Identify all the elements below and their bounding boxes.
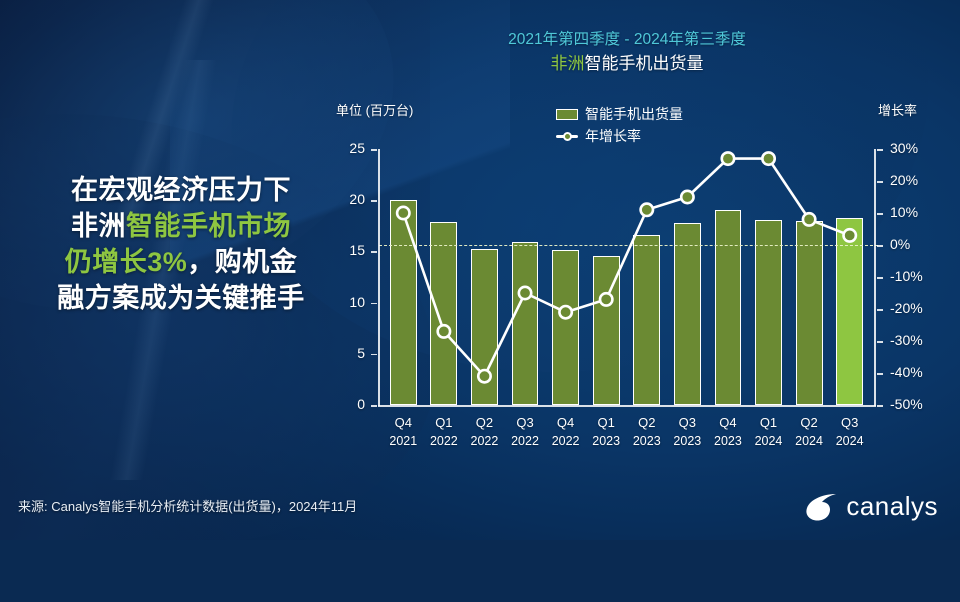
left-tickmark-0 <box>371 405 377 407</box>
growth-marker-10 <box>803 213 815 225</box>
right-tickmark-neg30pct <box>877 341 883 343</box>
canalys-mark-icon <box>804 492 838 522</box>
right-tick-30pct: 30% <box>890 140 956 156</box>
left-tickmark-25 <box>371 149 377 151</box>
right-tickmark-0pct <box>877 245 883 247</box>
growth-marker-6 <box>641 204 653 216</box>
growth-marker-11 <box>844 229 856 241</box>
headline-line-2-green: 智能手机市场 <box>126 211 291 241</box>
right-axis-title: 增长率 <box>878 100 917 119</box>
right-tickmark-10pct <box>877 213 883 215</box>
headline-line-4-text: 融方案成为关键推手 <box>57 283 305 313</box>
chart-title-main: 非洲智能手机出货量 <box>392 51 862 76</box>
right-tickmark-neg40pct <box>877 373 883 375</box>
right-axis-line <box>874 149 876 406</box>
right-tick-neg40pct: -40% <box>890 364 956 380</box>
x-label-q3-2024: Q32024 <box>829 413 870 459</box>
headline-line-3: 仍增长3%，购机金 <box>16 244 346 280</box>
headline-line-1: 在宏观经济压力下 <box>16 172 346 208</box>
x-label-q2-2024: Q22024 <box>789 413 830 459</box>
right-tick-neg50pct: -50% <box>890 396 956 412</box>
left-tick-5: 5 <box>311 345 365 361</box>
chart-title: 2021年第四季度 - 2024年第三季度 非洲智能手机出货量 <box>392 28 862 76</box>
legend-item-shipments: 智能手机出货量 <box>556 103 683 125</box>
x-label-q3-2023: Q32023 <box>667 413 708 459</box>
growth-marker-1 <box>438 325 450 337</box>
x-label-q1-2024: Q12024 <box>748 413 789 459</box>
right-tickmark-20pct <box>877 181 883 183</box>
growth-marker-0 <box>397 207 409 219</box>
left-tick-20: 20 <box>311 191 365 207</box>
bar-swatch-icon <box>556 109 578 120</box>
x-label-q2-2022: Q22022 <box>464 413 505 459</box>
canalys-wordmark: canalys <box>846 491 938 522</box>
x-label-q2-2023: Q22023 <box>626 413 667 459</box>
left-tick-15: 15 <box>311 242 365 258</box>
slide-root: 在宏观经济压力下 非洲智能手机市场 仍增长3%，购机金 融方案成为关键推手 20… <box>0 0 960 540</box>
growth-marker-8 <box>722 152 734 164</box>
right-tickmark-neg10pct <box>877 277 883 279</box>
headline-line-2-white: 非洲 <box>71 211 126 241</box>
x-label-q1-2023: Q12023 <box>586 413 627 459</box>
right-tick-neg10pct: -10% <box>890 268 956 284</box>
x-axis-line <box>378 405 876 407</box>
headline: 在宏观经济压力下 非洲智能手机市场 仍增长3%，购机金 融方案成为关键推手 <box>16 172 346 316</box>
growth-marker-4 <box>559 306 571 318</box>
source-note: 来源: Canalys智能手机分析统计数据(出货量)，2024年11月 <box>18 496 357 515</box>
left-tickmark-15 <box>371 251 377 253</box>
right-tickmark-neg20pct <box>877 309 883 311</box>
growth-rate-line <box>373 139 880 415</box>
left-tick-25: 25 <box>311 140 365 156</box>
x-label-q4-2021: Q42021 <box>383 413 424 459</box>
x-axis-labels: Q42021Q12022Q22022Q32022Q42022Q12023Q220… <box>383 413 870 459</box>
right-tick-0pct: 0% <box>890 236 956 252</box>
headline-line-3-green: 仍增长3% <box>65 247 188 277</box>
left-tickmark-20 <box>371 200 377 202</box>
left-tick-10: 10 <box>311 294 365 310</box>
right-tick-20pct: 20% <box>890 172 956 188</box>
chart-title-period: 2021年第四季度 - 2024年第三季度 <box>392 28 862 51</box>
chart-title-main-white: 智能手机出货量 <box>585 54 704 73</box>
right-tick-10pct: 10% <box>890 204 956 220</box>
growth-marker-2 <box>478 370 490 382</box>
headline-line-2: 非洲智能手机市场 <box>16 208 346 244</box>
left-tickmark-5 <box>371 354 377 356</box>
right-tickmark-neg50pct <box>877 405 883 407</box>
right-tickmark-30pct <box>877 149 883 151</box>
headline-line-1-text: 在宏观经济压力下 <box>71 175 291 205</box>
x-label-q3-2022: Q32022 <box>505 413 546 459</box>
headline-line-3-white: ，购机金 <box>187 247 297 277</box>
headline-line-4: 融方案成为关键推手 <box>16 280 346 316</box>
left-tickmark-10 <box>371 303 377 305</box>
left-axis-line <box>378 149 380 406</box>
legend-label-shipments: 智能手机出货量 <box>585 103 683 125</box>
right-tick-neg30pct: -30% <box>890 332 956 348</box>
chart-plot-area <box>383 149 870 405</box>
x-label-q1-2022: Q12022 <box>424 413 465 459</box>
x-label-q4-2022: Q42022 <box>545 413 586 459</box>
growth-marker-3 <box>519 287 531 299</box>
growth-marker-5 <box>600 293 612 305</box>
growth-marker-9 <box>762 152 774 164</box>
left-axis-title: 单位 (百万台) <box>336 100 413 119</box>
x-label-q4-2023: Q42023 <box>708 413 749 459</box>
canalys-logo: canalys <box>804 491 938 522</box>
chart-title-main-green: 非洲 <box>551 54 585 73</box>
right-tick-neg20pct: -20% <box>890 300 956 316</box>
left-tick-0: 0 <box>311 396 365 412</box>
growth-marker-7 <box>681 191 693 203</box>
